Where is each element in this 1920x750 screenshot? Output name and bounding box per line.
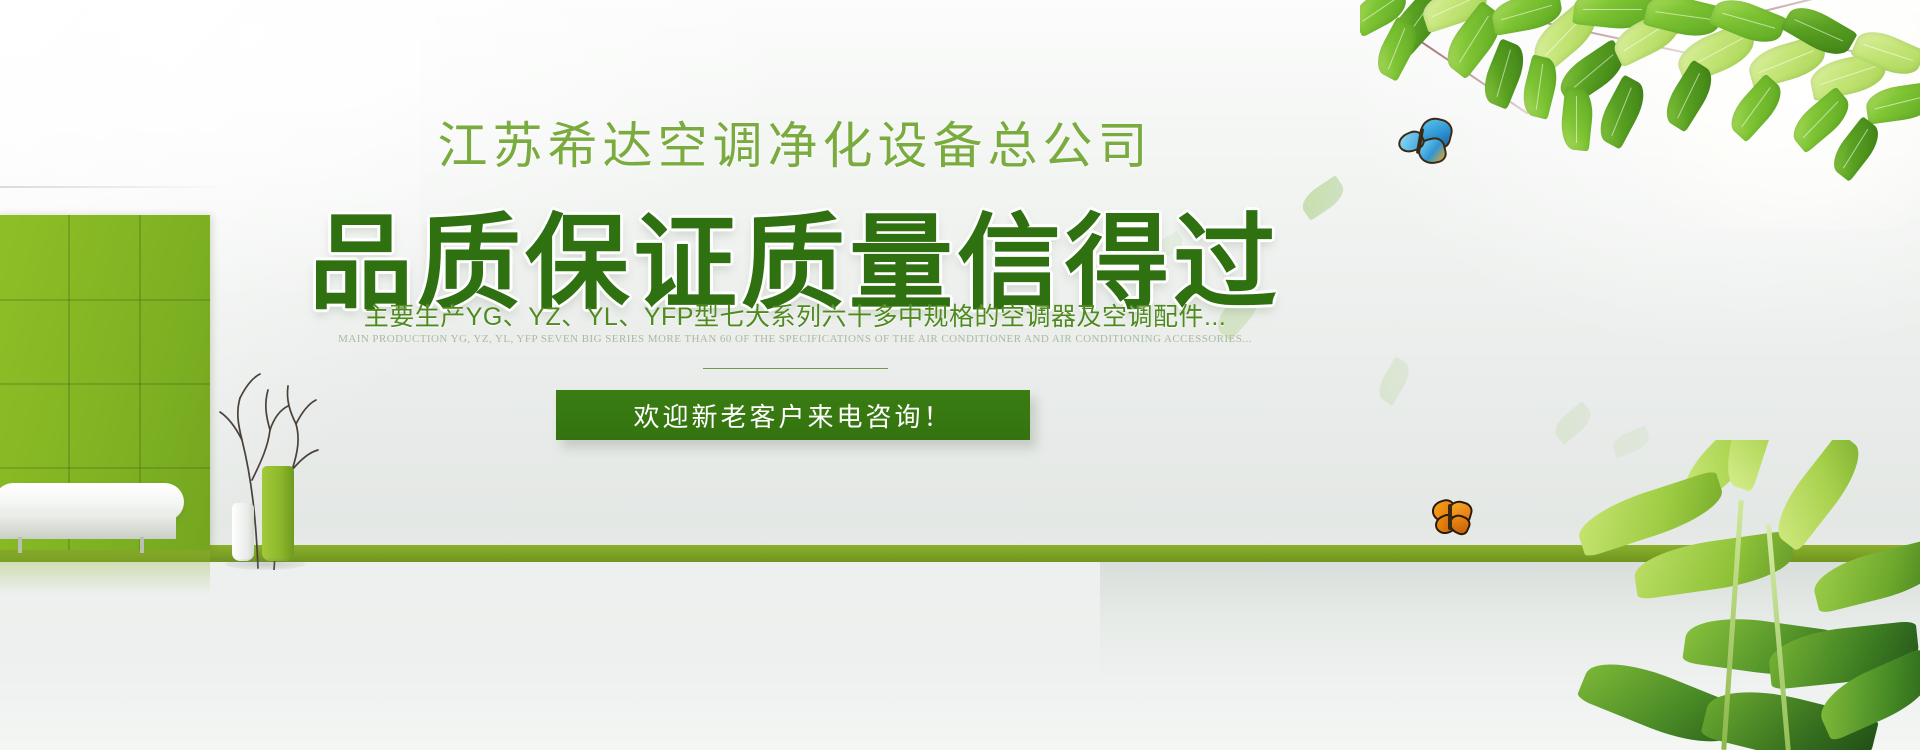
promo-banner: 江苏希达空调净化设备总公司 品质保证质量信得过 主要生产YG、YZ、YL、YFP… bbox=[0, 0, 1920, 750]
vase-shadow bbox=[225, 558, 305, 570]
floating-leaf bbox=[1297, 175, 1349, 221]
sofa-leg bbox=[18, 537, 22, 553]
floating-leaf bbox=[1211, 285, 1265, 341]
floating-leaf bbox=[1373, 356, 1414, 405]
sofa-base bbox=[0, 513, 176, 539]
blue-butterfly-icon bbox=[1398, 118, 1452, 166]
contact-cta-button[interactable]: 欢迎新老客户来电咨询！ bbox=[556, 390, 1030, 440]
green-vase bbox=[262, 466, 294, 561]
divider-line bbox=[703, 368, 888, 369]
leaf-canopy bbox=[1360, 0, 1920, 230]
cabinet-reflection bbox=[0, 550, 210, 594]
white-vase bbox=[232, 503, 254, 561]
wall-seam-line bbox=[0, 186, 230, 188]
potted-plant bbox=[1400, 440, 1920, 750]
floating-leaf bbox=[1148, 231, 1186, 264]
sofa-leg bbox=[140, 537, 144, 553]
floating-leaf bbox=[1550, 401, 1596, 445]
